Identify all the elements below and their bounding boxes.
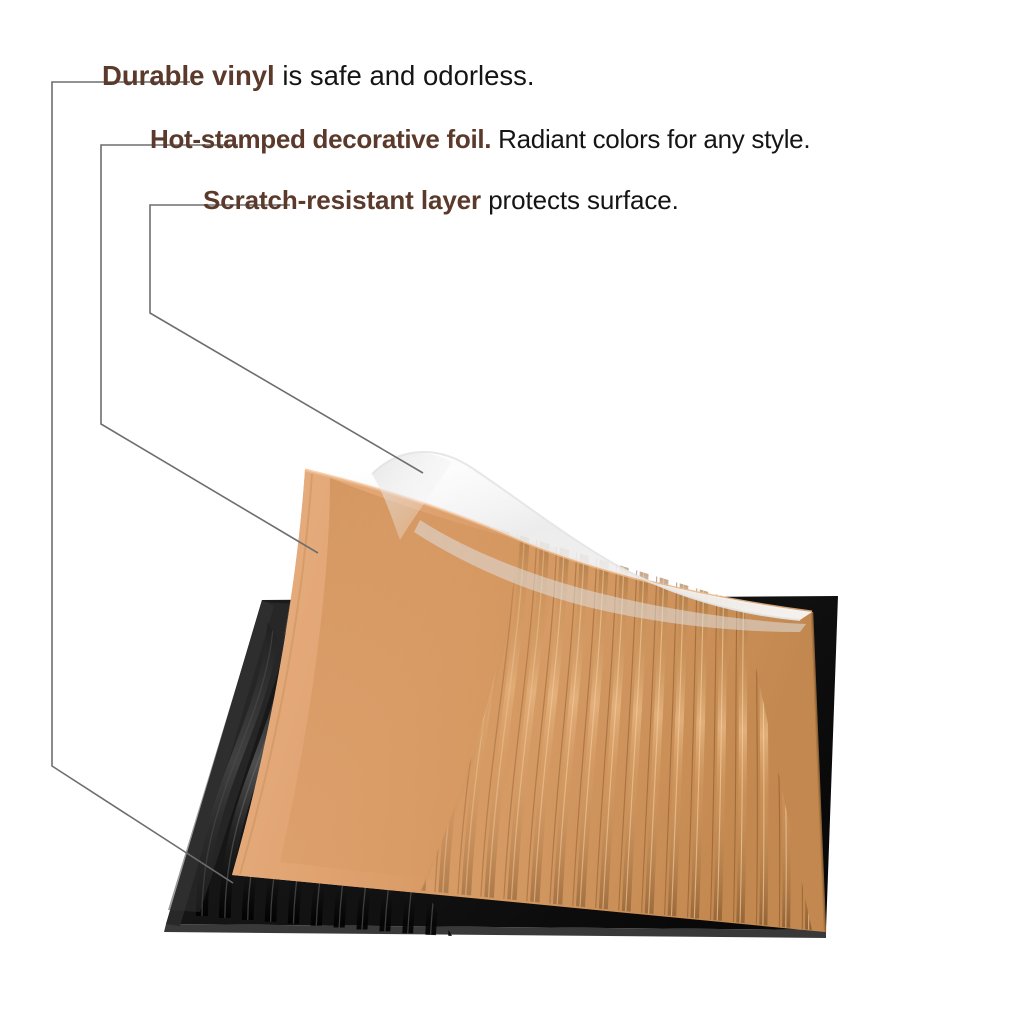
product-feature-diagram: Durable vinyl is safe and odorless. Hot-…	[0, 0, 1024, 1024]
callout-1-rest: is safe and odorless.	[275, 60, 535, 91]
leader-line-3	[150, 205, 423, 473]
callout-3-lead: Scratch-resistant layer	[203, 185, 481, 215]
callout-2-lead: Hot-stamped decorative foil.	[150, 124, 491, 154]
callout-scratch-resistant-layer: Scratch-resistant layer protects surface…	[203, 187, 679, 213]
callout-3-rest: protects surface.	[481, 185, 679, 215]
callout-1-lead: Durable vinyl	[102, 60, 275, 91]
callout-durable-vinyl: Durable vinyl is safe and odorless.	[102, 62, 535, 90]
callout-2-rest: Radiant colors for any style.	[491, 124, 810, 154]
callout-hot-stamped-foil: Hot-stamped decorative foil. Radiant col…	[150, 126, 810, 152]
